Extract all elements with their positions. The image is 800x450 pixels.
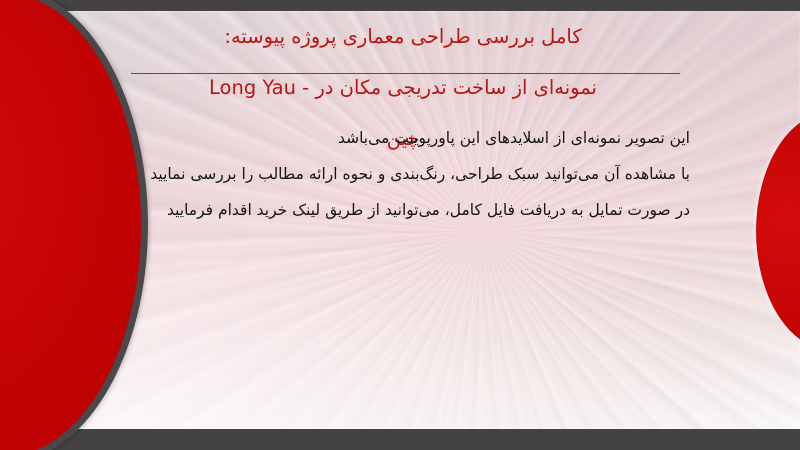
slide-body-line-3: در صورت تمایل به دریافت فایل کامل، می‌تو… — [150, 192, 690, 228]
slide-body-line-1: این تصویر نمونه‌ای از اسلایدهای این پاور… — [150, 120, 690, 156]
slide-body-line-2: با مشاهده آن می‌توانید سبک طراحی، رنگ‌بن… — [150, 156, 690, 192]
presentation-slide: کامل بررسی طراحی معماری پروژه پیوسته: نم… — [0, 0, 800, 450]
title-underline-rule — [131, 73, 680, 74]
slide-body-text: این تصویر نمونه‌ای از اسلایدهای این پاور… — [150, 120, 690, 228]
slide-title-line-1: کامل بررسی طراحی معماری پروژه پیوسته: — [120, 24, 686, 50]
slide-title-line-2: نمونه‌ای از ساخت تدریجی مکان در - Long Y… — [120, 75, 686, 101]
